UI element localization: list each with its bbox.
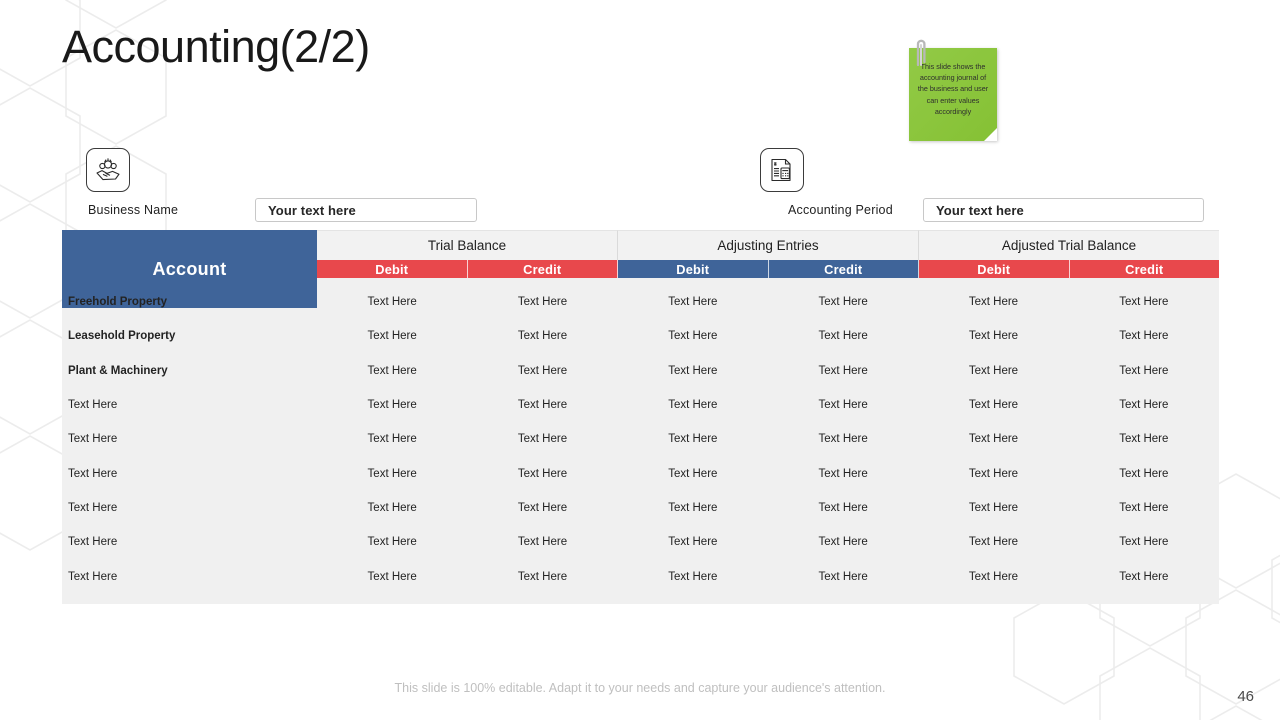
table-cell-value[interactable]: Text Here — [918, 468, 1068, 480]
table-cell-value[interactable]: Text Here — [618, 399, 768, 411]
table-row-values: Text HereText HereText HereText HereText… — [317, 330, 1219, 342]
table-cell-value[interactable]: Text Here — [768, 468, 918, 480]
table-row: Text HereText HereText HereText HereText… — [62, 525, 1219, 559]
table-header-group-row: Trial Balance Adjusting Entries Adjusted… — [317, 230, 1219, 260]
table-row: Plant & MachineryText HereText HereText … — [62, 354, 1219, 388]
table-cell-value[interactable]: Text Here — [768, 365, 918, 377]
table-cell-account[interactable]: Plant & Machinery — [62, 365, 317, 377]
table-row: Text HereText HereText HereText HereText… — [62, 456, 1219, 490]
subheader-adjusted-credit: Credit — [1070, 260, 1220, 278]
accounting-period-input[interactable]: Your text here — [923, 198, 1204, 222]
table-cell-value[interactable]: Text Here — [317, 571, 467, 583]
table-header: Account Trial Balance Adjusting Entries … — [62, 230, 1219, 278]
table-cell-account[interactable]: Text Here — [62, 536, 317, 548]
table-cell-value[interactable]: Text Here — [467, 571, 617, 583]
table-cell-value[interactable]: Text Here — [467, 502, 617, 514]
table-cell-value[interactable]: Text Here — [918, 399, 1068, 411]
table-cell-value[interactable]: Text Here — [317, 468, 467, 480]
handshake-community-icon — [86, 148, 130, 192]
page-title: Accounting(2/2) — [62, 22, 370, 72]
table-body: Freehold PropertyText HereText HereText … — [62, 278, 1219, 604]
table-header-groups: Trial Balance Adjusting Entries Adjusted… — [317, 230, 1219, 278]
table-cell-value[interactable]: Text Here — [918, 536, 1068, 548]
slide-canvas: Accounting(2/2) This slide shows the acc… — [0, 0, 1280, 720]
sticky-note-text: This slide shows the accounting journal … — [914, 61, 992, 117]
table-cell-account[interactable]: Text Here — [62, 433, 317, 445]
paperclip-icon — [913, 38, 929, 68]
group-header-adjusted-trial-balance: Adjusted Trial Balance — [919, 230, 1219, 260]
table-cell-account[interactable]: Text Here — [62, 571, 317, 583]
table-cell-value[interactable]: Text Here — [768, 399, 918, 411]
table-cell-value[interactable]: Text Here — [467, 296, 617, 308]
table-cell-value[interactable]: Text Here — [768, 296, 918, 308]
table-cell-value[interactable]: Text Here — [1069, 296, 1219, 308]
subheader-adjusting-credit: Credit — [769, 260, 920, 278]
table-cell-value[interactable]: Text Here — [1069, 365, 1219, 377]
subheader-trial-debit: Debit — [317, 260, 468, 278]
table-row-values: Text HereText HereText HereText HereText… — [317, 502, 1219, 514]
accounting-table: Account Trial Balance Adjusting Entries … — [62, 230, 1219, 604]
invoice-calculator-icon — [760, 148, 804, 192]
sticky-note: This slide shows the accounting journal … — [905, 38, 1001, 142]
table-cell-value[interactable]: Text Here — [1069, 502, 1219, 514]
table-cell-value[interactable]: Text Here — [768, 571, 918, 583]
table-cell-value[interactable]: Text Here — [467, 330, 617, 342]
table-row: Text HereText HereText HereText HereText… — [62, 559, 1219, 593]
editable-footer-note: This slide is 100% editable. Adapt it to… — [0, 681, 1280, 695]
table-cell-value[interactable]: Text Here — [918, 502, 1068, 514]
table-row-values: Text HereText HereText HereText HereText… — [317, 433, 1219, 445]
accounting-period-label: Accounting Period — [788, 203, 893, 217]
table-cell-value[interactable]: Text Here — [618, 502, 768, 514]
group-header-adjusting-entries: Adjusting Entries — [618, 230, 919, 260]
table-cell-value[interactable]: Text Here — [1069, 468, 1219, 480]
table-cell-account[interactable]: Text Here — [62, 399, 317, 411]
business-name-label: Business Name — [88, 203, 178, 217]
table-cell-value[interactable]: Text Here — [1069, 399, 1219, 411]
business-name-input[interactable]: Your text here — [255, 198, 477, 222]
accounting-period-field-group: Accounting Period Your text here — [760, 148, 1220, 224]
table-cell-value[interactable]: Text Here — [317, 296, 467, 308]
table-cell-value[interactable]: Text Here — [618, 296, 768, 308]
table-cell-value[interactable]: Text Here — [467, 433, 617, 445]
business-name-field-group: Business Name Your text here — [62, 148, 482, 224]
table-row-values: Text HereText HereText HereText HereText… — [317, 365, 1219, 377]
table-cell-account[interactable]: Freehold Property — [62, 296, 317, 308]
table-cell-value[interactable]: Text Here — [618, 536, 768, 548]
table-cell-account[interactable]: Text Here — [62, 502, 317, 514]
table-row-values: Text HereText HereText HereText HereText… — [317, 296, 1219, 308]
subheader-adjusting-debit: Debit — [618, 260, 769, 278]
table-cell-value[interactable]: Text Here — [768, 433, 918, 445]
table-row-values: Text HereText HereText HereText HereText… — [317, 399, 1219, 411]
table-cell-value[interactable]: Text Here — [618, 433, 768, 445]
sticky-note-fold — [984, 128, 997, 141]
table-cell-value[interactable]: Text Here — [317, 365, 467, 377]
table-cell-value[interactable]: Text Here — [918, 433, 1068, 445]
table-cell-value[interactable]: Text Here — [467, 536, 617, 548]
table-cell-value[interactable]: Text Here — [618, 330, 768, 342]
table-row: Text HereText HereText HereText HereText… — [62, 422, 1219, 456]
table-cell-value[interactable]: Text Here — [768, 330, 918, 342]
table-cell-value[interactable]: Text Here — [467, 399, 617, 411]
table-cell-value[interactable]: Text Here — [1069, 433, 1219, 445]
table-cell-account[interactable]: Leasehold Property — [62, 330, 317, 342]
table-cell-value[interactable]: Text Here — [918, 330, 1068, 342]
table-cell-value[interactable]: Text Here — [918, 296, 1068, 308]
table-row-values: Text HereText HereText HereText HereText… — [317, 536, 1219, 548]
group-header-trial-balance: Trial Balance — [317, 230, 618, 260]
table-cell-value[interactable]: Text Here — [317, 502, 467, 514]
table-subheader-row: Debit Credit Debit Credit Debit Credit — [317, 260, 1219, 278]
table-row-values: Text HereText HereText HereText HereText… — [317, 571, 1219, 583]
subheader-adjusted-debit: Debit — [919, 260, 1070, 278]
table-cell-value[interactable]: Text Here — [618, 365, 768, 377]
table-cell-value[interactable]: Text Here — [918, 365, 1068, 377]
table-cell-value[interactable]: Text Here — [317, 536, 467, 548]
table-cell-value[interactable]: Text Here — [317, 399, 467, 411]
subheader-trial-credit: Credit — [468, 260, 619, 278]
table-cell-value[interactable]: Text Here — [1069, 330, 1219, 342]
table-cell-value[interactable]: Text Here — [618, 468, 768, 480]
table-cell-value[interactable]: Text Here — [918, 571, 1068, 583]
table-cell-value[interactable]: Text Here — [317, 330, 467, 342]
table-row: Text HereText HereText HereText HereText… — [62, 388, 1219, 422]
table-cell-value[interactable]: Text Here — [467, 468, 617, 480]
table-row-values: Text HereText HereText HereText HereText… — [317, 468, 1219, 480]
table-cell-account[interactable]: Text Here — [62, 468, 317, 480]
table-cell-value[interactable]: Text Here — [467, 365, 617, 377]
table-row: Leasehold PropertyText HereText HereText… — [62, 319, 1219, 353]
page-number: 46 — [1237, 688, 1254, 705]
table-cell-value[interactable]: Text Here — [768, 502, 918, 514]
table-row: Text HereText HereText HereText HereText… — [62, 491, 1219, 525]
table-cell-value[interactable]: Text Here — [1069, 571, 1219, 583]
table-cell-value[interactable]: Text Here — [618, 571, 768, 583]
table-cell-value[interactable]: Text Here — [317, 433, 467, 445]
table-cell-value[interactable]: Text Here — [1069, 536, 1219, 548]
table-cell-value[interactable]: Text Here — [768, 536, 918, 548]
